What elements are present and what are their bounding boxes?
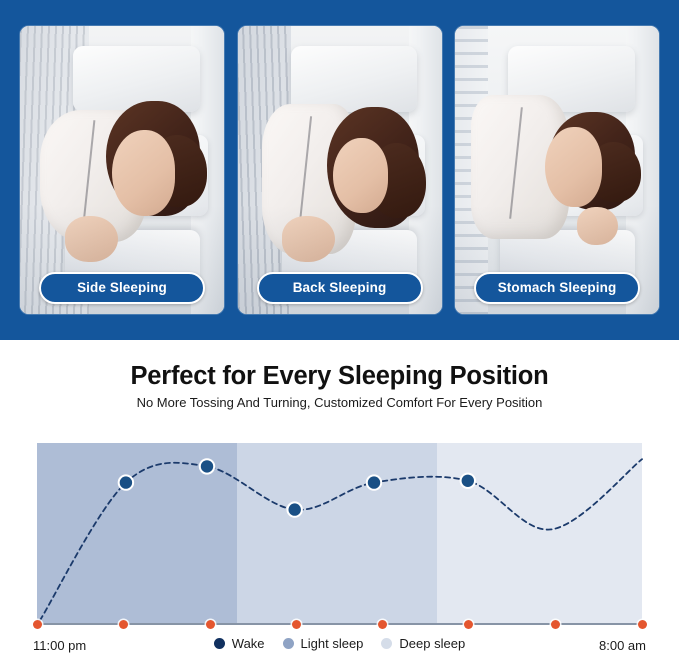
lower-section: Perfect for Every Sleeping Position No M… (0, 340, 679, 658)
axis-tick-dot-7 (638, 620, 647, 629)
badge-side-sleeping: Side Sleeping (39, 272, 205, 304)
axis-tick-dot-6 (551, 620, 560, 629)
legend-item-deep-sleep[interactable]: Deep sleep (381, 636, 465, 651)
sleep-cycle-chart: 11:00 pm 8:00 am WakeLight sleepDeep sle… (0, 436, 679, 658)
badge-back-sleeping: Back Sleeping (257, 272, 423, 304)
sleep-point-marker[interactable] (368, 476, 380, 488)
legend-label: Light sleep (301, 636, 364, 651)
sleeping-position-panels: Side Sleeping Back Sleeping (20, 26, 659, 314)
sleeper-head (545, 127, 602, 208)
sleep-point-marker[interactable] (120, 476, 132, 488)
back-sleeping-photo (238, 26, 442, 314)
sleeper-head (333, 138, 388, 213)
sleeper-arm (65, 216, 118, 262)
sleep-curve-svg (37, 443, 642, 623)
product-infographic: Side Sleeping Back Sleeping (0, 0, 679, 658)
sleep-point-marker[interactable] (201, 460, 213, 472)
axis-tick-dot-5 (464, 620, 473, 629)
badge-stomach-sleeping: Stomach Sleeping (474, 272, 640, 304)
axis-tick-dot-1 (119, 620, 128, 629)
sleep-point-marker[interactable] (462, 475, 474, 487)
wedge-pillow-top (73, 46, 199, 112)
sleeper-arm (577, 207, 618, 244)
legend-item-wake[interactable]: Wake (214, 636, 265, 651)
legend-swatch-icon (381, 638, 392, 649)
chart-legend: WakeLight sleepDeep sleep (0, 636, 679, 651)
sleep-point-marker[interactable] (289, 503, 301, 515)
legend-label: Wake (232, 636, 265, 651)
hero-section: Side Sleeping Back Sleeping (0, 0, 679, 340)
legend-swatch-icon (283, 638, 294, 649)
legend-label: Deep sleep (399, 636, 465, 651)
side-sleeping-photo (20, 26, 224, 314)
panel-back-sleeping[interactable]: Back Sleeping (238, 26, 442, 314)
axis-tick-dot-4 (378, 620, 387, 629)
wedge-pillow-top (291, 46, 417, 112)
panel-stomach-sleeping[interactable]: Stomach Sleeping (455, 26, 659, 314)
axis-tick-dot-3 (292, 620, 301, 629)
legend-swatch-icon (214, 638, 225, 649)
stomach-sleeping-photo (455, 26, 659, 314)
chart-plot-area (37, 443, 642, 623)
page-title: Perfect for Every Sleeping Position (0, 362, 679, 391)
page-subtitle: No More Tossing And Turning, Customized … (0, 395, 679, 410)
axis-tick-dot-0 (33, 620, 42, 629)
sleeper-head (112, 130, 175, 216)
sleep-curve-markers (118, 458, 476, 518)
panel-side-sleeping[interactable]: Side Sleeping (20, 26, 224, 314)
axis-tick-dot-2 (206, 620, 215, 629)
legend-item-light-sleep[interactable]: Light sleep (283, 636, 364, 651)
